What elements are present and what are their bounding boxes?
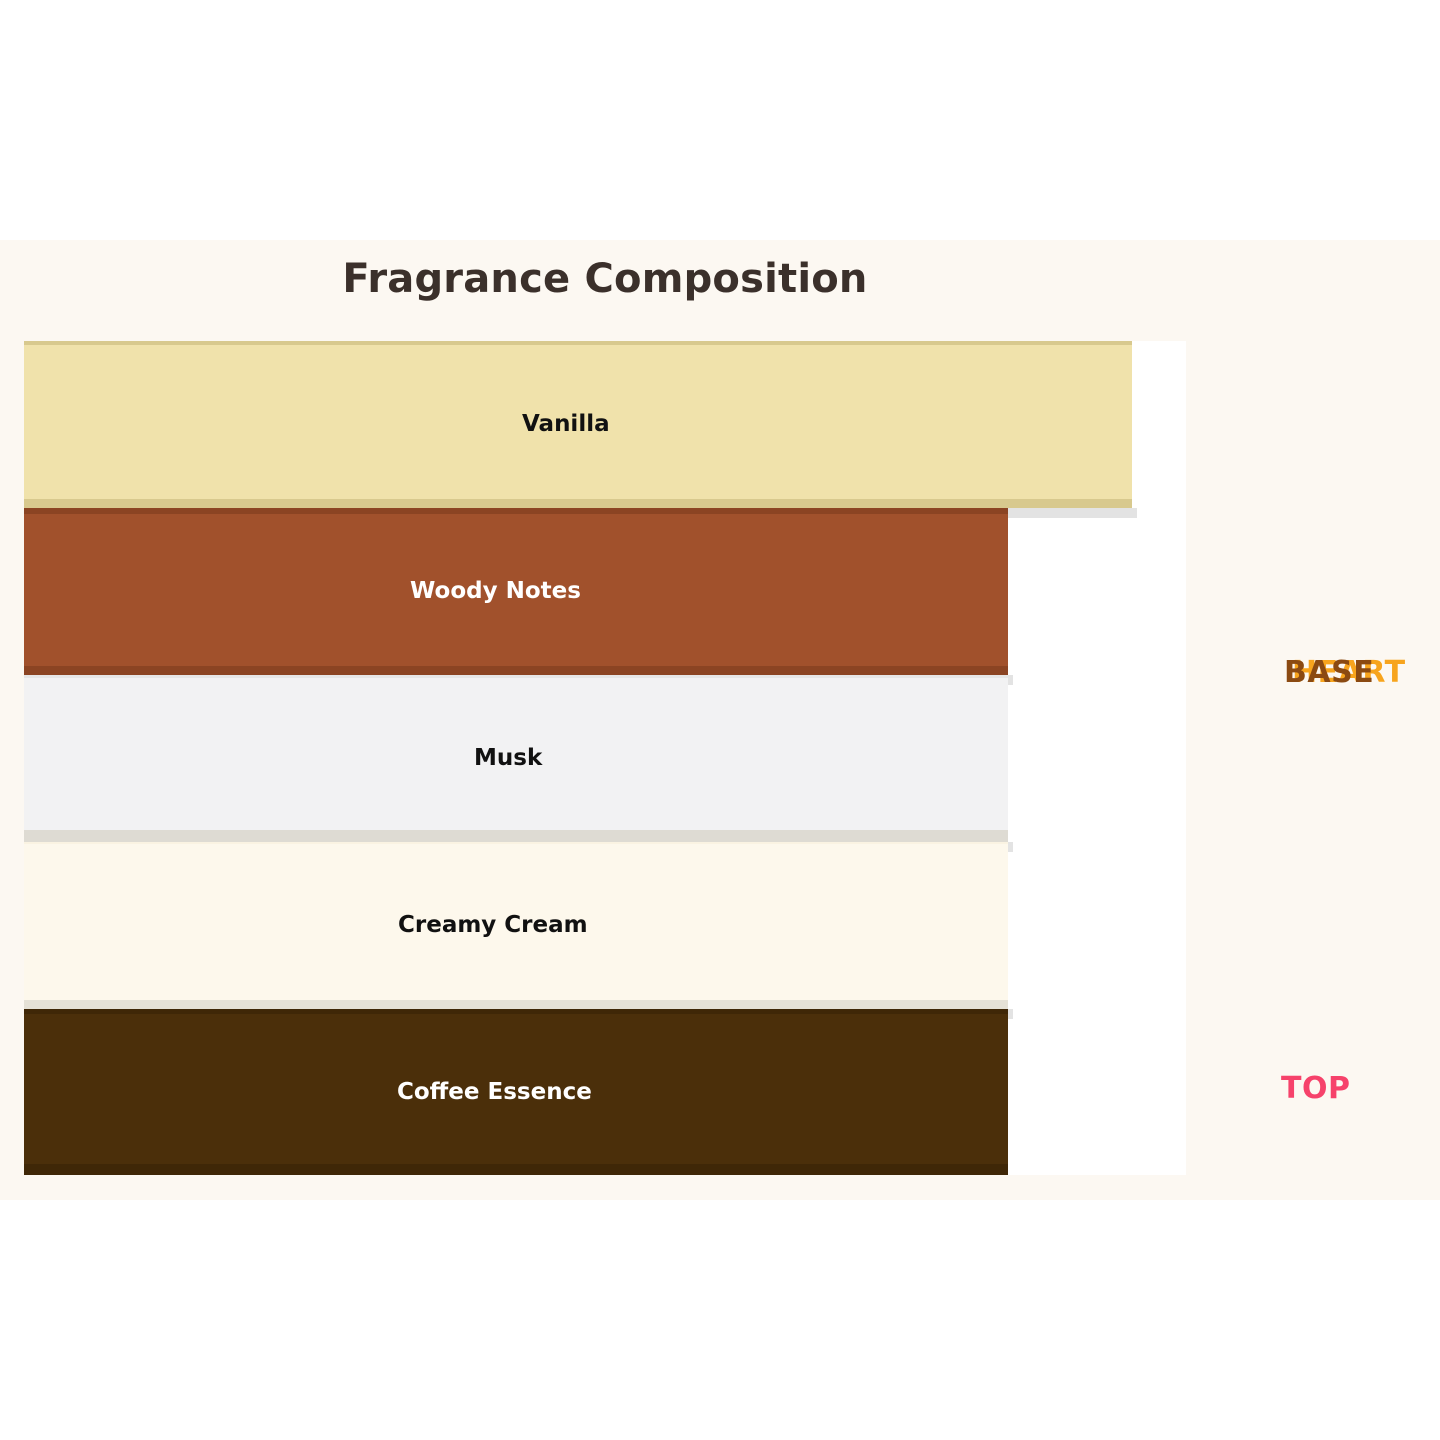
- page-title: Fragrance Composition: [0, 256, 1210, 302]
- bar-row: Woody Notes: [24, 508, 1186, 680]
- chart-figure: Fragrance Composition Vanilla Woody Note…: [0, 240, 1440, 1200]
- bar-row: Musk: [24, 675, 1186, 847]
- bar-label-woody-notes: Woody Notes: [410, 578, 581, 604]
- plot-area: Vanilla Woody Notes Musk Creamy Cream Co…: [24, 341, 1186, 1175]
- bar-row: Coffee Essence: [24, 1009, 1186, 1175]
- stage-label-base: BASE: [1284, 655, 1374, 690]
- bar-label-creamy-cream: Creamy Cream: [398, 912, 588, 938]
- bar-label-coffee-essence: Coffee Essence: [397, 1079, 592, 1105]
- stage-label-top: TOP: [1281, 1071, 1350, 1106]
- bar-label-musk: Musk: [474, 745, 542, 771]
- bar-row: Vanilla: [24, 341, 1186, 513]
- bar-row: Creamy Cream: [24, 842, 1186, 1014]
- bar-label-vanilla: Vanilla: [522, 411, 610, 437]
